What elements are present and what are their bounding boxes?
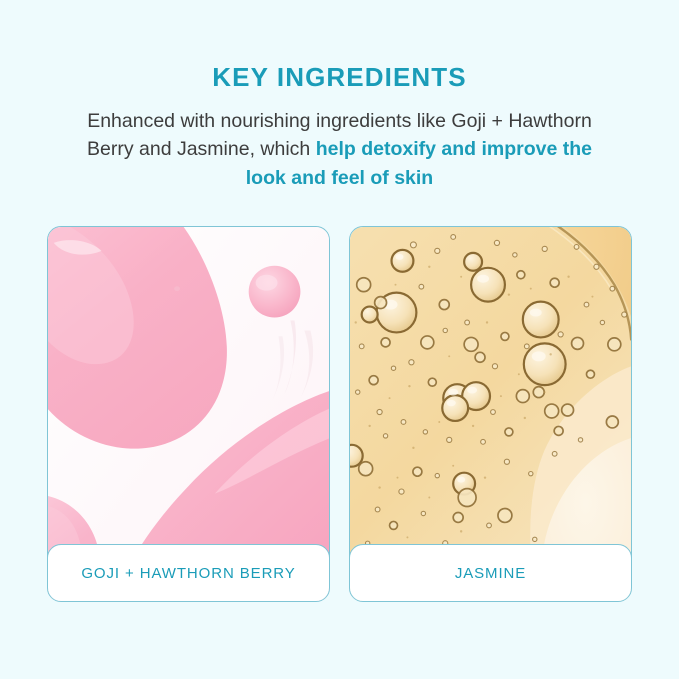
goji-hawthorn-berry-label: GOJI + HAWTHORN BERRY	[47, 544, 330, 602]
ingredient-card-jasmine[interactable]: JASMINE	[349, 226, 632, 602]
page-subtitle: Enhanced with nourishing ingredients lik…	[75, 92, 605, 193]
header: KEY INGREDIENTS Enhanced with nourishing…	[0, 0, 679, 193]
ingredient-card-goji-hawthorn-berry[interactable]: GOJI + HAWTHORN BERRY	[47, 226, 330, 602]
goji-hawthorn-berry-label-text: GOJI + HAWTHORN BERRY	[81, 565, 295, 582]
page-title: KEY INGREDIENTS	[0, 0, 679, 92]
ingredient-card-list: GOJI + HAWTHORN BERRY	[47, 226, 632, 602]
jasmine-label-text: JASMINE	[455, 565, 526, 582]
jasmine-label: JASMINE	[349, 544, 632, 602]
ingredients-panel: KEY INGREDIENTS Enhanced with nourishing…	[0, 0, 679, 679]
